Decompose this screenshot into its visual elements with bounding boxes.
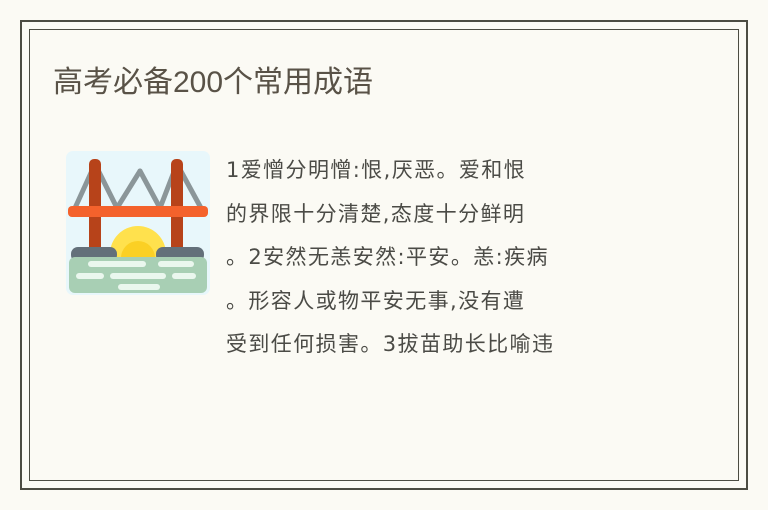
body-text-block: 1爱憎分明憎:恨,厌恶。爱和恨 的界限十分清楚,态度十分鲜明 。2安然无恙安然:… — [226, 149, 739, 419]
body-line: 。2安然无恙安然:平安。恙:疾病 — [226, 236, 739, 280]
body-line: 。形容人或物平安无事,没有遭 — [226, 280, 739, 324]
page-title: 高考必备200个常用成语 — [53, 65, 373, 101]
page-content: 高考必备200个常用成语 — [29, 29, 739, 481]
body-line: 的界限十分清楚,态度十分鲜明 — [226, 193, 739, 237]
bridge-sunset-illustration — [66, 151, 210, 295]
page-root: 高考必备200个常用成语 — [0, 0, 768, 510]
body-line: 受到任何损害。3拔苗助长比喻违 — [226, 323, 739, 367]
body-line: 1爱憎分明憎:恨,厌恶。爱和恨 — [226, 149, 739, 193]
bridge-sunset-icon — [66, 151, 210, 295]
